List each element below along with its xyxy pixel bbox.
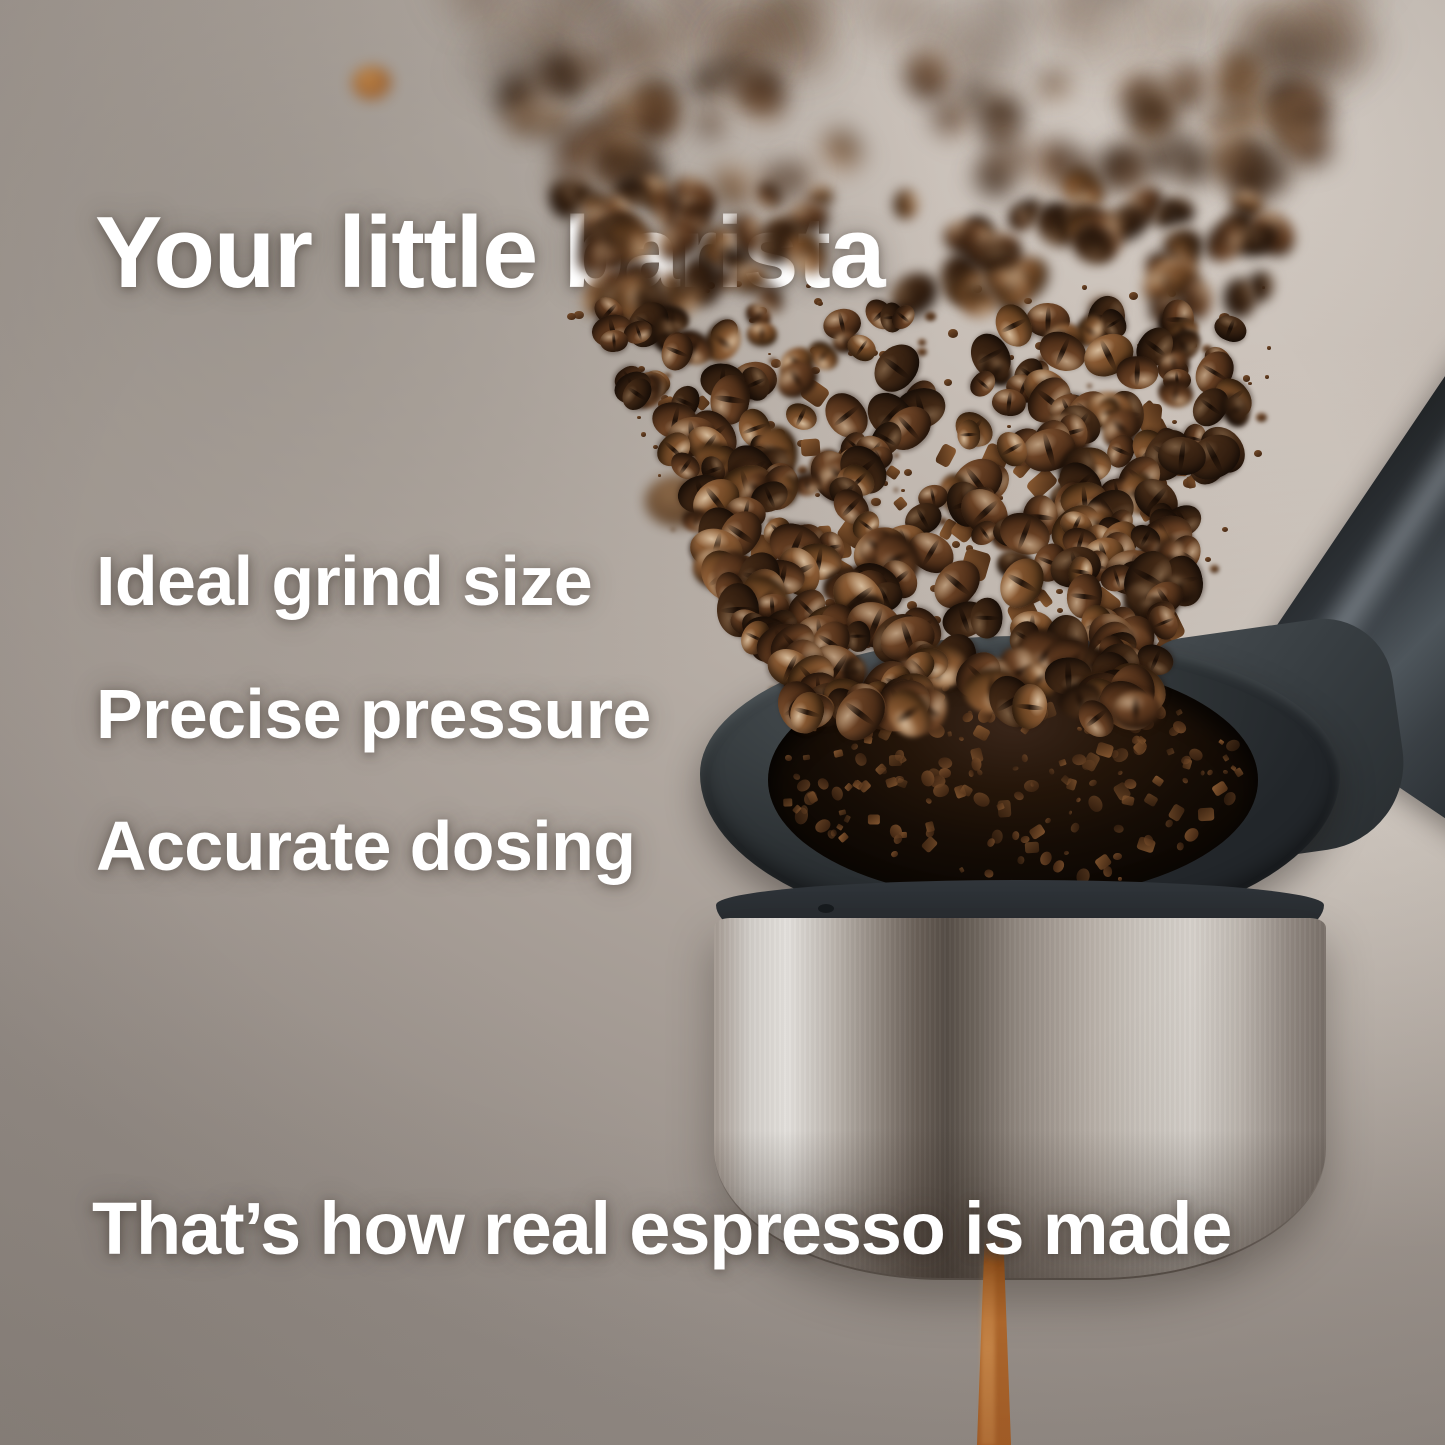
tagline: That’s how real espresso is made bbox=[92, 1186, 1231, 1271]
product-poster: Your little barista Ideal grind size Pre… bbox=[0, 0, 1445, 1445]
feature-item-dosing: Accurate dosing bbox=[96, 806, 635, 886]
feature-item-grind-size: Ideal grind size bbox=[96, 541, 592, 621]
feature-item-pressure: Precise pressure bbox=[96, 674, 651, 754]
page-title: Your little barista bbox=[95, 196, 884, 311]
